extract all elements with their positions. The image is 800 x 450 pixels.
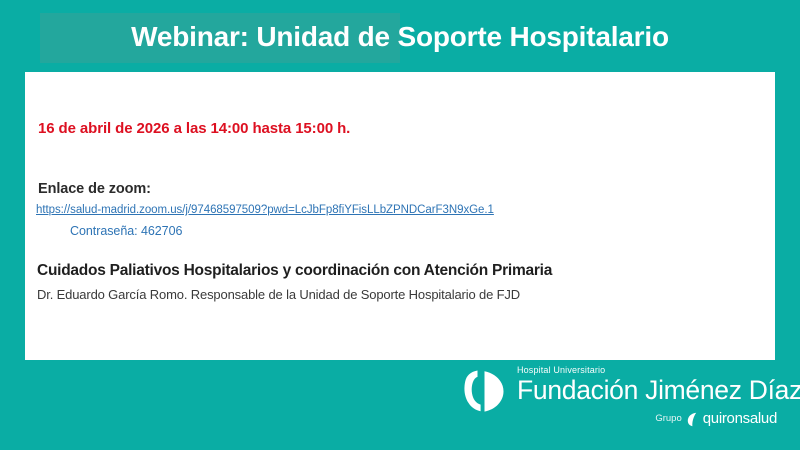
- content-card: 16 de abril de 2026 a las 14:00 hasta 15…: [25, 72, 775, 360]
- zoom-password: Contraseña: 462706: [70, 224, 182, 238]
- quironsalud-leaf-icon: [687, 412, 698, 427]
- title-band: Webinar: Unidad de Soporte Hospitalario: [0, 0, 800, 72]
- logo-kicker: Hospital Universitario: [517, 365, 800, 376]
- event-date-time: 16 de abril de 2026 a las 14:00 hasta 15…: [38, 120, 350, 137]
- group-brand-line: Grupo quironsalud: [655, 410, 777, 427]
- session-speaker: Dr. Eduardo García Romo. Responsable de …: [37, 287, 520, 302]
- logo-name: Fundación Jiménez Díaz: [517, 375, 800, 406]
- session-title: Cuidados Paliativos Hospitalarios y coor…: [37, 262, 552, 280]
- zoom-link-label: Enlace de zoom:: [38, 181, 151, 197]
- zoom-meeting-link[interactable]: https://salud-madrid.zoom.us/j/974685975…: [36, 204, 494, 216]
- group-label: Grupo: [655, 413, 681, 424]
- jd-monogram-icon: [455, 368, 513, 414]
- page-title: Webinar: Unidad de Soporte Hospitalario: [0, 17, 800, 57]
- institution-logo: Hospital Universitario Fundación Jiménez…: [455, 365, 785, 435]
- logo-wordmark: Hospital Universitario Fundación Jiménez…: [517, 365, 800, 406]
- group-brand: quironsalud: [703, 410, 777, 427]
- webinar-poster: Webinar: Unidad de Soporte Hospitalario …: [0, 0, 800, 450]
